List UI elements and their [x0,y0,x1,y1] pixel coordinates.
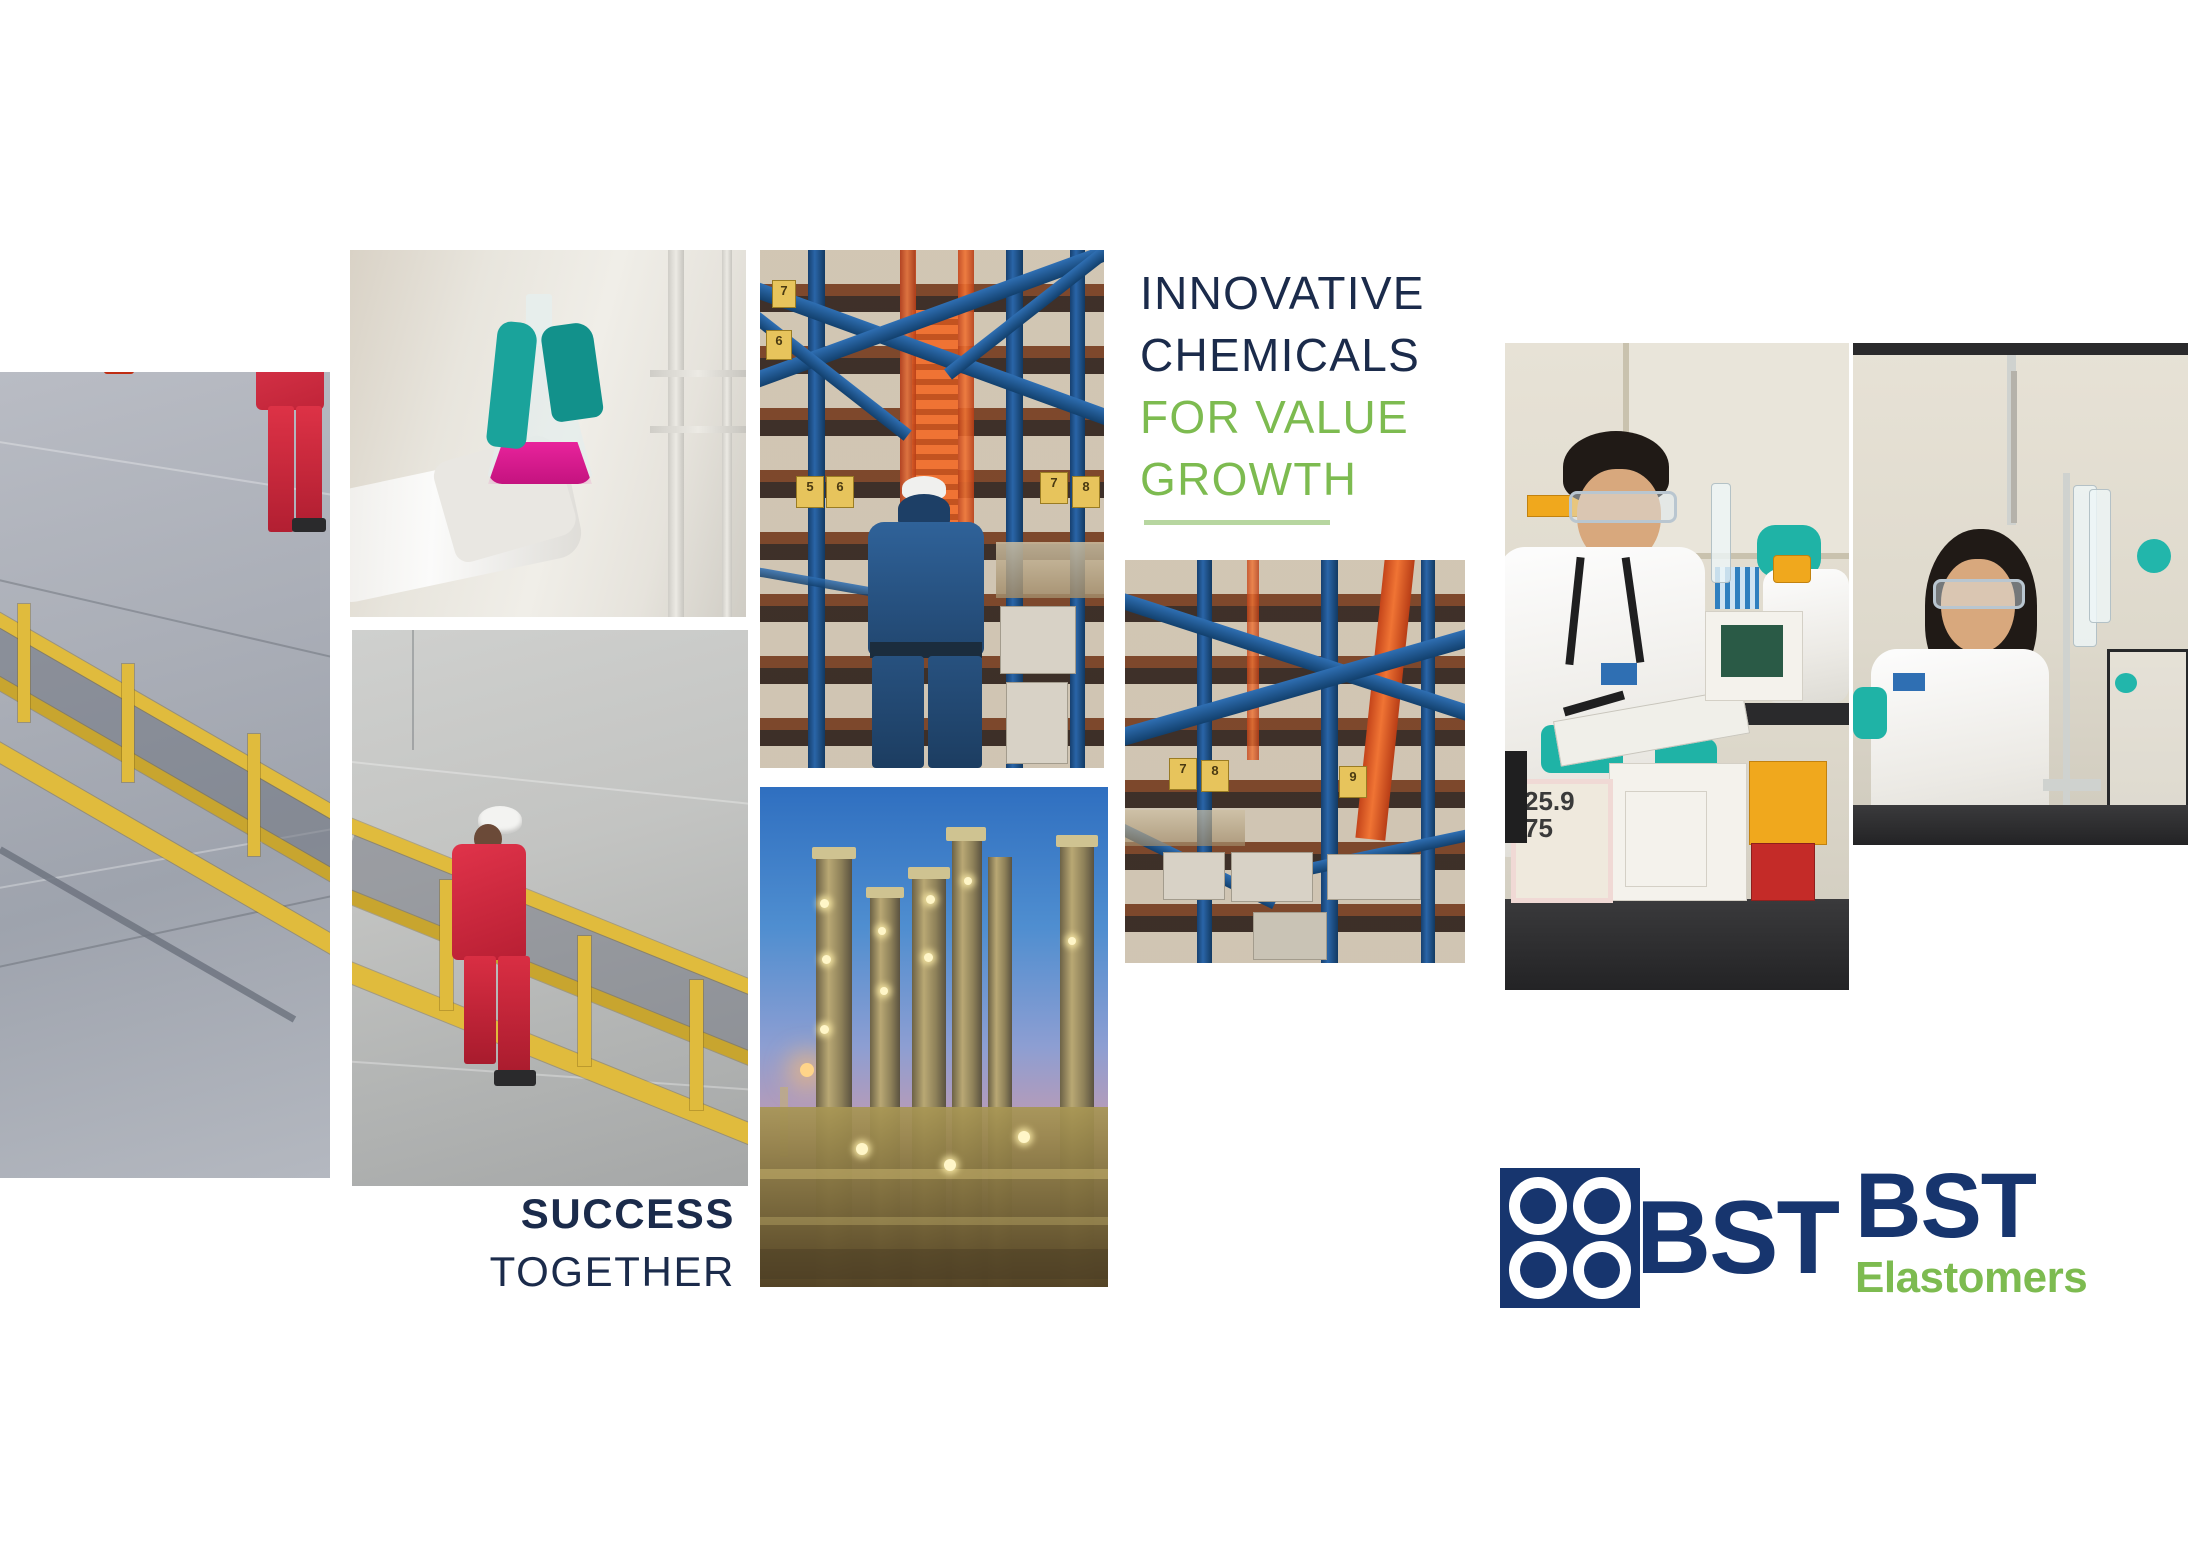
stair-post [248,734,260,856]
column-cap [866,887,904,898]
pallet [996,542,1104,598]
bench [1853,805,2188,845]
bst-logo-mark [1500,1168,1640,1308]
plant-light [1068,937,1076,945]
tank-seam [352,760,748,810]
control-box [1000,606,1076,674]
stair-treads [0,846,296,1022]
logo-ring-icon [1509,1241,1567,1299]
safety-glasses [1933,579,2025,609]
slide-canvas: 7 6 5 6 7 8 [0,0,2188,1562]
control-box [1231,852,1313,902]
tagline-line-3: FOR VALUE [1140,386,1500,448]
success-line-1: SUCCESS [415,1186,735,1242]
control-box [1253,912,1327,960]
aisle-sign: 6 [766,330,792,360]
success-line-2: TOGETHER [415,1242,735,1302]
pipe-rack [760,1169,1108,1179]
stair-post [122,664,134,782]
graduated-cylinder [1711,483,1731,583]
pipette-bulb [2137,539,2171,573]
shelf-pole [668,250,684,617]
elastomers-logo-line-1: BST [1855,1160,2087,1252]
plant-light [1018,1131,1030,1143]
control-box [1327,854,1421,900]
tagline-line-4: GROWTH [1140,448,1500,510]
control-box [1006,682,1068,764]
aisle-sign: 9 [1339,766,1367,798]
stair-post [18,604,30,722]
condenser [2089,489,2111,623]
plant-light [822,955,831,964]
pipe-rack [760,1217,1108,1225]
wall-post [2011,371,2017,523]
plant-light [820,1025,829,1034]
stand-base [2043,779,2101,791]
sample-flask [1773,555,1811,583]
aisle-sign: 7 [772,280,796,308]
bst-logo-wordmark: BST [1636,1186,1838,1290]
plant-light [820,899,829,908]
stand-rod [2063,473,2070,807]
logo-ring-icon [1573,1177,1631,1235]
photo-stairs-single [352,630,748,1186]
flask-liquid [488,442,592,484]
stair-post [690,980,703,1110]
plant-light [964,877,972,885]
shelf-edge [650,370,746,377]
aisle-sign: 7 [1169,758,1197,790]
rack-upright [808,250,825,768]
badge [1601,663,1637,685]
safety-glasses [1569,491,1677,523]
bst-logo: BST [1500,1168,1838,1308]
aisle-sign: 5 [796,476,824,508]
plant-light [878,927,886,935]
tagline-line-1: INNOVATIVE [1140,262,1500,324]
rack-upright [1321,560,1338,963]
photo-lab-man: 25.9 75 [1505,343,1849,990]
tank-seam [412,630,414,750]
photo-warehouse-racks: 7 8 9 [1125,560,1465,963]
column-cap [812,847,856,859]
plant-light [856,1143,868,1155]
column-cap [908,867,950,879]
rack-upright-orange [1247,560,1259,760]
aisle-sign: 8 [1201,760,1229,792]
plant-shadow [760,1249,1108,1279]
control-box [1163,852,1225,900]
tagline-underline [1144,520,1330,525]
logo-ring-icon [1509,1177,1567,1235]
reagent-box [1749,761,1827,845]
aisle-sign: 6 [826,476,854,508]
shelf-pole [722,250,732,617]
photo-lab-woman [1853,343,2188,845]
photo-stairs-team [0,372,330,1178]
stair-post [578,936,591,1066]
column-cap [1056,835,1098,847]
rack-upright [1070,250,1085,768]
lab-instrument [1625,791,1707,887]
rack-upright [1421,560,1435,963]
ceiling-rail [1853,343,2188,355]
tank-seam [352,1060,748,1095]
plant-light [926,895,935,904]
success-together-text: SUCCESS TOGETHER [415,1186,735,1302]
pallet [1125,810,1245,846]
column-cap [946,827,986,841]
photo-warehouse-worker: 7 6 5 6 7 8 [760,250,1104,768]
gloved-hand [1853,687,1887,739]
meter-humidity-value: 75 [1524,815,1608,842]
shelf-edge [650,426,746,433]
logo-ring-icon [1573,1241,1631,1299]
tagline: INNOVATIVE CHEMICALS FOR VALUE GROWTH [1140,262,1500,510]
plant-light [880,987,888,995]
pipette-bulb [2115,673,2137,693]
badge [1893,673,1925,691]
aisle-sign: 8 [1072,476,1100,508]
photo-flask [350,250,746,617]
photo-refinery-dusk [760,787,1108,1287]
plant-light [944,1159,956,1171]
plant-light [924,953,933,962]
bst-elastomers-logo: BST Elastomers [1855,1160,2087,1304]
bench [1505,899,1849,990]
lab-instrument [1505,751,1527,843]
aisle-sign: 7 [1040,472,1068,504]
instrument-screen [1721,625,1783,677]
elastomers-logo-line-2: Elastomers [1855,1252,2087,1304]
meter-temp-value: 25.9 [1524,788,1608,815]
flare-stack-light [800,1063,814,1077]
reagent-box [1751,843,1815,901]
tagline-line-2: CHEMICALS [1140,324,1500,386]
